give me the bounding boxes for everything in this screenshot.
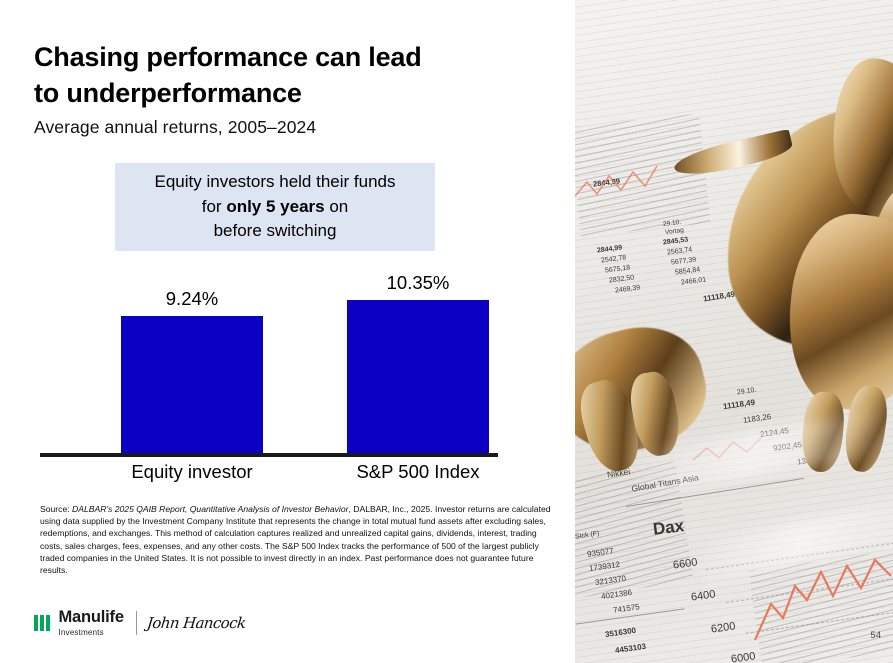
category-label-1: Equity investor xyxy=(92,461,292,483)
content-pane: Chasing performance can lead to underper… xyxy=(0,0,575,663)
page-title-line-2: to underperformance xyxy=(34,76,534,112)
chart-axis-line xyxy=(40,453,498,457)
callout-line-1: Equity investors held their funds xyxy=(155,170,396,195)
chart-plot-area: 9.24%10.35% xyxy=(34,272,504,454)
footnote-source-body: , DALBAR, Inc., 2025. Investor returns a… xyxy=(40,504,551,575)
bar-2 xyxy=(347,300,489,454)
page-title-line-1: Chasing performance can lead xyxy=(34,40,534,76)
logo-divider xyxy=(136,611,137,635)
manulife-bars-icon xyxy=(34,615,50,631)
brand-logo: Manulife Investments John Hancock xyxy=(34,606,245,640)
callout-line-3: before switching xyxy=(214,219,337,244)
footnote-source-prefix: Source: xyxy=(40,504,72,514)
slide: Chasing performance can lead to underper… xyxy=(0,0,893,663)
bar-value-label-1: 9.24% xyxy=(122,288,262,310)
source-footnote: Source: DALBAR's 2025 QAIB Report, Quant… xyxy=(40,503,553,576)
slide-number: 54 xyxy=(870,630,881,641)
footnote-source-title: DALBAR's 2025 QAIB Report, Quantitative … xyxy=(72,504,348,514)
category-label-2: S&P 500 Index xyxy=(318,461,518,483)
bull-bear-photo: 2844,9929.10.Vortag2845,532844,992542,78… xyxy=(575,0,893,663)
bar-1 xyxy=(121,316,263,454)
callout-highlight: only 5 years xyxy=(226,197,324,216)
page-title: Chasing performance can lead to underper… xyxy=(34,40,534,111)
john-hancock-signature: John Hancock xyxy=(146,614,246,632)
callout-line-2-pre: for xyxy=(202,197,227,216)
manulife-tagline: Investments xyxy=(59,629,124,637)
bar-chart: 9.24%10.35% Equity investorS&P 500 Index xyxy=(34,272,504,497)
manulife-name: Manulife xyxy=(59,609,124,626)
manulife-wordmark: Manulife Investments xyxy=(59,609,124,637)
bar-value-label-2: 10.35% xyxy=(348,272,488,294)
callout-line-2-post: on xyxy=(325,197,349,216)
callout-box: Equity investors held their funds for on… xyxy=(115,163,435,251)
callout-line-2: for only 5 years on xyxy=(202,195,348,220)
page-subtitle: Average annual returns, 2005–2024 xyxy=(34,117,316,138)
